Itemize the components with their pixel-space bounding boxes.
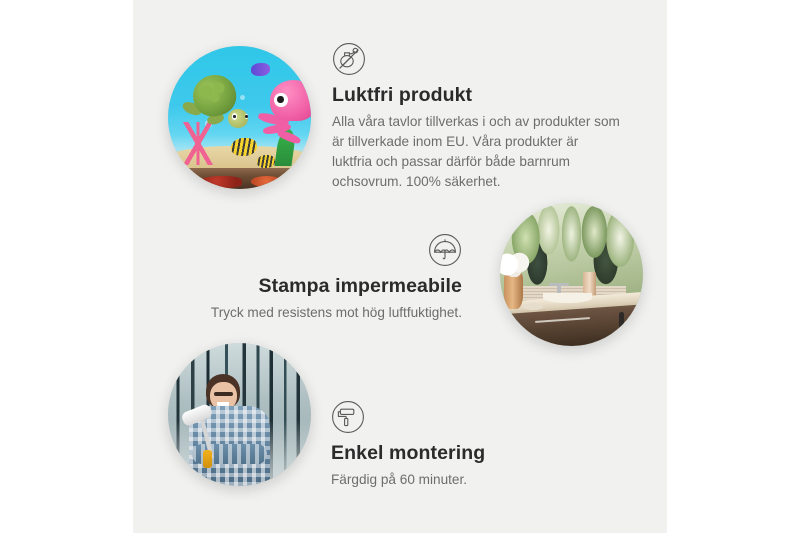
yellow-fish: [231, 138, 257, 157]
door-handle: [619, 311, 624, 331]
no-scent-bottle-icon: [332, 42, 622, 76]
drawer-handle: [535, 317, 590, 323]
octopus-head: [270, 80, 311, 121]
feature-description: Alla våra tavlor tillverkas i och av pro…: [332, 112, 622, 192]
feature-description: Färgdig på 60 minuter.: [331, 470, 581, 490]
feature-description: Tryck med resistens mot hög luftfuktighe…: [200, 303, 462, 323]
tentacle: [276, 129, 301, 145]
woman-with-roller-forest-circle-image: [168, 343, 311, 486]
blue-fish: [251, 63, 270, 76]
feature-block-odorless: Luktfri produkt Alla våra tavlor tillver…: [332, 42, 622, 192]
octopus: [257, 80, 311, 146]
sea-turtle: [184, 73, 250, 130]
feature-title: Luktfri produkt: [332, 83, 622, 107]
feature-block-waterproof: Stampa impermeabile Tryck med resistens …: [200, 233, 462, 323]
bathroom-scene: [500, 203, 643, 346]
screenshot-root: Luktfri produkt Alla våra tavlor tillver…: [0, 0, 800, 533]
eyes: [214, 392, 234, 395]
underwater-scene: [168, 46, 311, 189]
white-flowers: [500, 252, 531, 278]
sea-floor-shelf: [168, 168, 311, 189]
roller-grip: [203, 450, 212, 468]
umbrella-icon: [200, 233, 462, 267]
octopus-eye: [274, 93, 288, 108]
bathroom-leaf-wallpaper-circle-image: [500, 203, 643, 346]
forest-scene: [168, 343, 311, 486]
sink-basin: [543, 293, 592, 303]
feature-title: Enkel montering: [331, 441, 581, 465]
underwater-cartoon-circle-image: [168, 46, 311, 189]
yellow-fish: [257, 155, 276, 168]
turtle-head: [228, 109, 248, 128]
feature-title: Stampa impermeabile: [200, 274, 462, 298]
feature-block-easy-assembly: Enkel montering Färgdig på 60 minuter.: [331, 400, 581, 490]
paint-roller-icon: [331, 400, 581, 434]
woman-figure: [185, 374, 274, 486]
